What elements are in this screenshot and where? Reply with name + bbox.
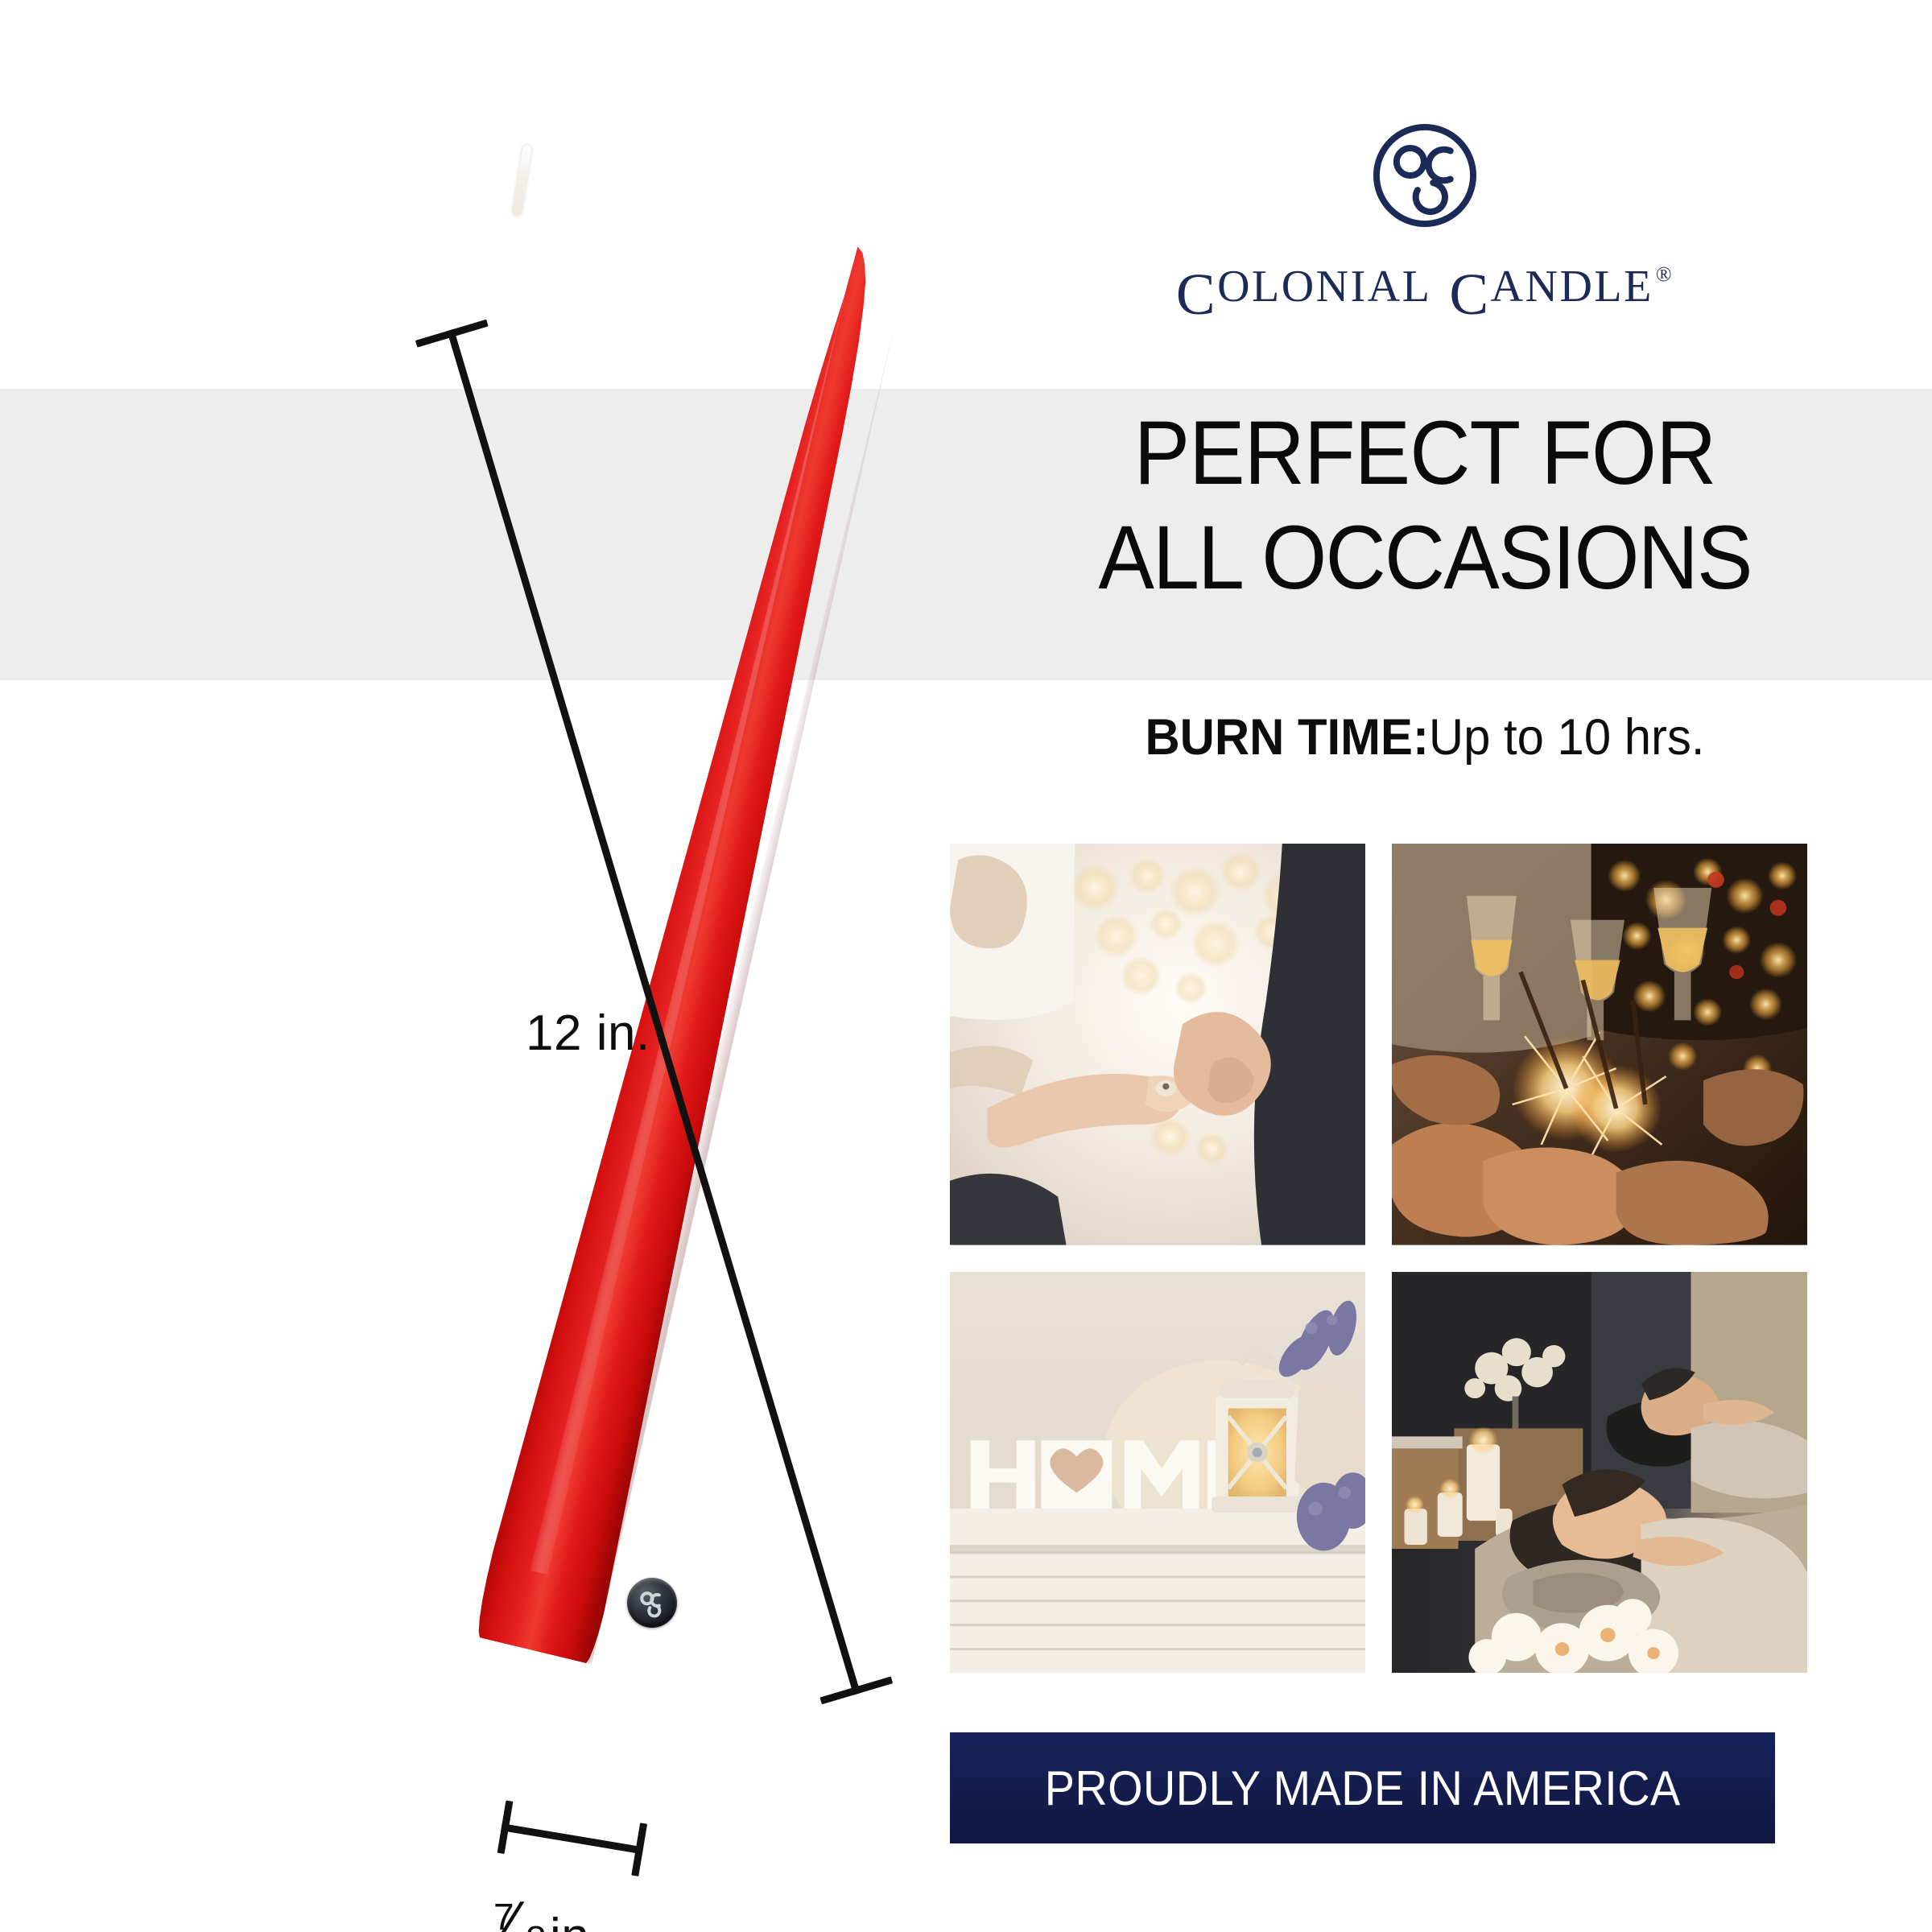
marketing-panel: COLONIALCANDLE® PERFECT FOR ALL OCCASION… [918, 0, 1932, 1932]
brand-logo: COLONIALCANDLE® [918, 121, 1932, 328]
wedding-ring-exchange-photo [950, 844, 1365, 1245]
width-unit: in. [550, 1908, 604, 1932]
width-fraction: 7 ⁄ 8 [493, 1900, 543, 1932]
product-infographic: 12 in. 7 ⁄ 8 in. [0, 0, 1932, 1932]
burn-time-label: BURN TIME: [1145, 709, 1428, 766]
colonial-candle-cc-monogram-icon [1370, 121, 1480, 230]
height-label: 12 in. [526, 1005, 650, 1062]
taper-candle [473, 235, 928, 1665]
home-decor-lantern-photo [950, 1272, 1365, 1674]
made-in-america-text: PROUDLY MADE IN AMERICA [1044, 1761, 1680, 1816]
page-title: PERFECT FOR ALL OCCASIONS [953, 401, 1897, 610]
burn-time-text: BURN TIME:Up to 10 hrs. [943, 708, 1907, 766]
candle-figure: 12 in. 7 ⁄ 8 in. [205, 145, 753, 1658]
brand-c2: C [1449, 261, 1490, 328]
width-dimension-line [501, 1823, 643, 1854]
brand-wordmark: COLONIALCANDLE® [1176, 261, 1674, 328]
brand-colonial-rest: OLONIAL [1217, 261, 1431, 312]
spa-relaxation-photo [1392, 1272, 1807, 1674]
product-panel: 12 in. 7 ⁄ 8 in. [0, 0, 918, 1932]
registered-mark: ® [1656, 264, 1674, 285]
dimension-cap-right [631, 1823, 647, 1876]
brand-c1: C [1176, 261, 1217, 328]
fraction-slash: ⁄ [507, 1893, 518, 1932]
fraction-denominator: 8 [526, 1918, 547, 1932]
width-label: 7 ⁄ 8 in. [493, 1900, 604, 1932]
headline-line-1: PERFECT FOR [953, 401, 1897, 506]
candle-body [473, 235, 928, 1665]
headline-line-2: ALL OCCASIONS [953, 506, 1897, 610]
dimension-cap-top [415, 320, 489, 348]
celebration-sparklers-champagne-photo [1392, 844, 1807, 1245]
dimension-cap-left [497, 1800, 514, 1854]
burn-time-value: Up to 10 hrs. [1429, 709, 1705, 766]
candle-wick [512, 145, 532, 217]
made-in-america-banner: PROUDLY MADE IN AMERICA [950, 1732, 1775, 1843]
dimension-cap-bottom [819, 1676, 893, 1704]
cc-medallion-icon [627, 1578, 677, 1628]
lifestyle-photo-grid [950, 844, 1807, 1673]
brand-candle-rest: ANDLE [1491, 261, 1653, 312]
